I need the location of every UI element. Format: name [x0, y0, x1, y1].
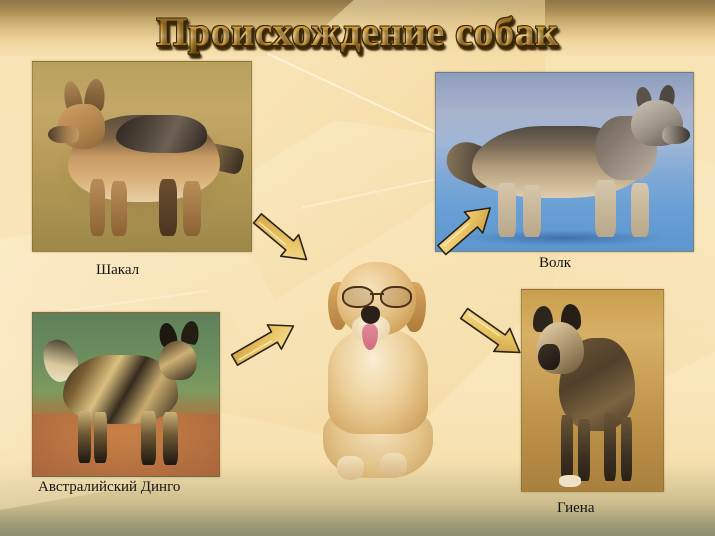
animal-head [159, 341, 196, 380]
slide: Происхождение собак Шакал Волк [0, 0, 715, 536]
animal-snout [662, 126, 690, 144]
glasses-bridge [370, 293, 384, 295]
caption-dingo: Австралийский Динго [38, 479, 180, 496]
animal-leg [621, 417, 632, 481]
animal-leg [595, 180, 616, 237]
animal-leg [94, 412, 107, 463]
glasses-lens [380, 286, 412, 308]
background-leaf-vein [61, 290, 210, 313]
caption-wolf: Волк [539, 255, 571, 272]
caption-hyena: Гиена [557, 500, 594, 517]
center-dog-photo [318, 262, 438, 482]
animal-leg [631, 183, 649, 236]
animal-leg [163, 412, 178, 464]
animal-leg [498, 183, 516, 236]
animal-leg [561, 415, 572, 481]
glasses-icon [342, 286, 412, 304]
dingo-photo [32, 312, 220, 477]
animal-leg [578, 419, 589, 481]
hyena-photo [521, 289, 664, 492]
arrow-to-dingo [224, 312, 304, 374]
animal-foot [559, 475, 582, 487]
animal-leg [78, 411, 91, 463]
animal-leg [523, 185, 541, 237]
slide-title: Происхождение собак [0, 8, 715, 55]
animal-snout [538, 344, 561, 370]
jackal-photo [32, 61, 252, 252]
animal-leg [604, 413, 617, 481]
arrow-to-jackal [246, 210, 318, 268]
glasses-lens [342, 286, 374, 308]
animal-leg [183, 181, 200, 236]
animal-snout [48, 126, 79, 143]
dog-paw [380, 453, 406, 477]
animal-back-marking [116, 115, 208, 153]
arrow-to-hyena [452, 302, 532, 364]
animal-leg [90, 179, 105, 236]
caption-jackal: Шакал [96, 262, 139, 279]
wolf-photo [435, 72, 694, 252]
animal-leg [111, 181, 126, 236]
animal-leg [159, 179, 176, 236]
dog-paw [337, 456, 363, 480]
animal-leg [141, 411, 156, 465]
background-leaf-vein [267, 53, 454, 141]
dog-chest [328, 328, 429, 434]
